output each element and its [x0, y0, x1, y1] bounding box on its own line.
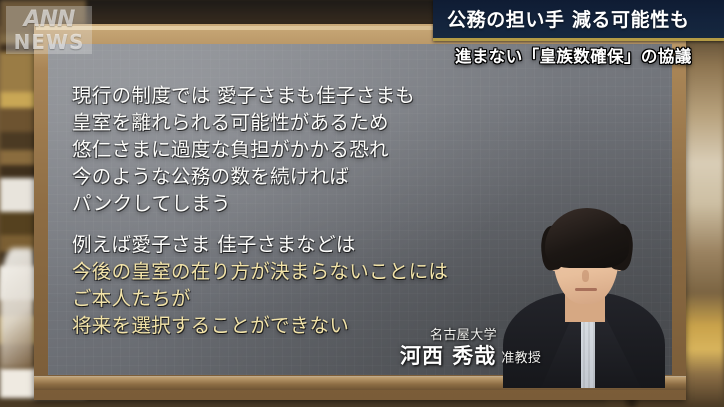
guest-affiliation: 名古屋大学: [430, 328, 541, 344]
headline-main-bar: 公務の担い手 減る可能性も: [433, 0, 724, 41]
quote-line: 皇室を離れられる可能性があるため: [72, 109, 502, 136]
guest-name-line: 河西 秀哉 准教授: [400, 344, 541, 369]
watermark-ann-text: ANN: [24, 9, 75, 31]
quote-line: 今のような公務の数を続ければ: [72, 163, 502, 190]
quote-area: 現行の制度では 愛子さまも佳子さまも 皇室を離れられる可能性があるため 悠仁さま…: [72, 82, 502, 339]
quote-line: パンクしてしまう: [72, 190, 502, 217]
quote-line: ご本人たちが: [72, 285, 502, 312]
quote-block-1: 現行の制度では 愛子さまも佳子さまも 皇室を離れられる可能性があるため 悠仁さま…: [72, 82, 502, 217]
ann-news-watermark: ANN NEWS: [6, 6, 92, 54]
headline-banner: 公務の担い手 減る可能性も 進まない「皇族数確保」の協議: [433, 0, 724, 71]
guest-name: 河西 秀哉: [400, 344, 496, 369]
quote-line: 今後の皇室の在り方が決まらないことには: [72, 258, 502, 285]
headline-main-text: 公務の担い手 減る可能性も: [447, 8, 714, 32]
guest-hair: [545, 208, 629, 268]
guest-mouth: [575, 288, 597, 291]
quote-block-2: 例えば愛子さま 佳子さまなどは 今後の皇室の在り方が決まらないことには ご本人た…: [72, 231, 502, 339]
headline-sub-bar: 進まない「皇族数確保」の協議: [433, 41, 724, 71]
headline-sub-text: 進まない「皇族数確保」の協議: [455, 46, 714, 67]
guest-caption: 名古屋大学 河西 秀哉 准教授: [400, 328, 541, 369]
guest-nose: [582, 270, 589, 282]
broadcast-screenshot: 現行の制度では 愛子さまも佳子さまも 皇室を離れられる可能性があるため 悠仁さま…: [0, 0, 724, 407]
quote-line: 現行の制度では 愛子さまも佳子さまも: [72, 82, 502, 109]
quote-line: 悠仁さまに過度な負担がかかる恐れ: [72, 136, 502, 163]
guest-title: 准教授: [501, 349, 541, 369]
quote-line: 例えば愛子さま 佳子さまなどは: [72, 231, 502, 258]
background-figure: [0, 248, 34, 368]
watermark-news-text: NEWS: [14, 32, 85, 52]
